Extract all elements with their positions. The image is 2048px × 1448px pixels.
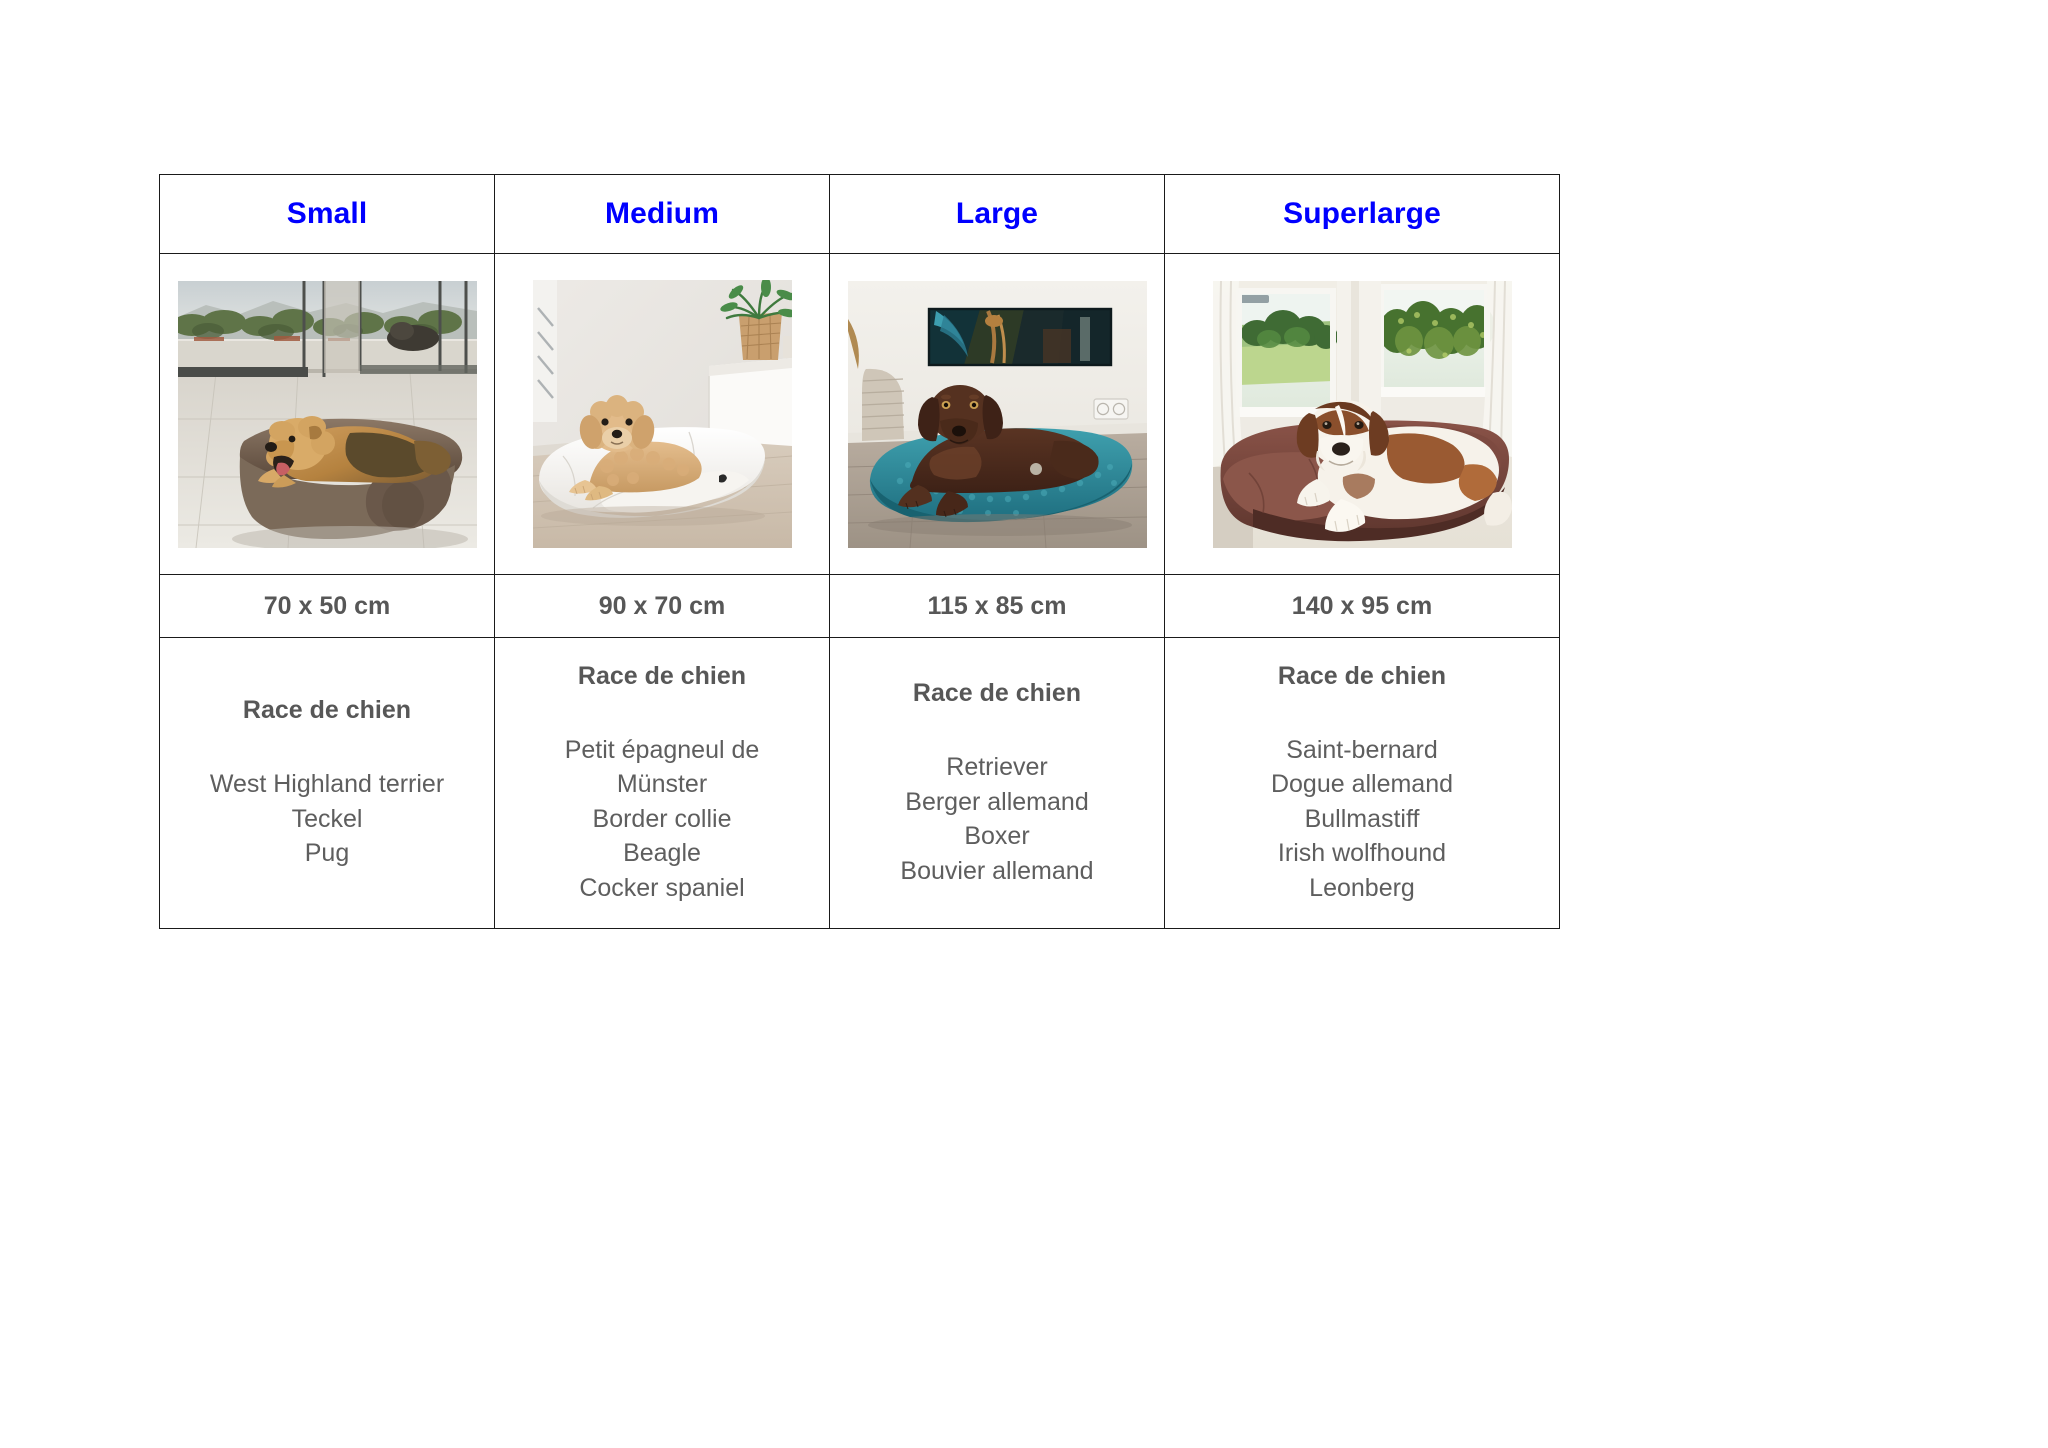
photo-wrap-superlarge: [1165, 281, 1559, 548]
dimension-large: 115 x 85 cm: [830, 594, 1164, 619]
list-item: Irish wolfhound: [1165, 836, 1559, 871]
breed-heading-large: Race de chien: [830, 678, 1164, 708]
list-item: Dogue allemand: [1165, 767, 1559, 802]
list-item: Retriever: [830, 750, 1164, 785]
cell-title-large: Large: [830, 175, 1165, 254]
large-dog-bed-photo: [848, 281, 1147, 548]
cell-dimension-superlarge: 140 x 95 cm: [1165, 575, 1560, 638]
photo-wrap-medium: [495, 280, 829, 548]
cell-photo-small: [160, 254, 495, 575]
column-title-superlarge: Superlarge: [1165, 199, 1559, 229]
list-item: Cocker spaniel: [495, 871, 829, 906]
table-row-size-titles: Small Medium Large Superlarge: [160, 175, 1560, 254]
breed-list-small: West Highland terrier Teckel Pug: [160, 767, 494, 871]
cell-breeds-medium: Race de chien Petit épagneul de Münster …: [495, 638, 830, 929]
cell-breeds-large: Race de chien Retriever Berger allemand …: [830, 638, 1165, 929]
list-item: Pug: [160, 836, 494, 871]
list-item: West Highland terrier: [160, 767, 494, 802]
cell-photo-superlarge: [1165, 254, 1560, 575]
small-dog-bed-photo: [178, 281, 477, 548]
photo-wrap-small: [160, 281, 494, 548]
column-title-large: Large: [830, 199, 1164, 229]
list-item: Boxer: [830, 819, 1164, 854]
list-item: Border collie: [495, 802, 829, 837]
breed-list-large: Retriever Berger allemand Boxer Bouvier …: [830, 750, 1164, 888]
cell-dimension-small: 70 x 50 cm: [160, 575, 495, 638]
medium-dog-bed-photo: [533, 280, 792, 548]
cell-title-small: Small: [160, 175, 495, 254]
breed-list-superlarge: Saint-bernard Dogue allemand Bullmastiff…: [1165, 733, 1559, 906]
cell-title-medium: Medium: [495, 175, 830, 254]
breed-heading-small: Race de chien: [160, 695, 494, 725]
cell-breeds-small: Race de chien West Highland terrier Teck…: [160, 638, 495, 929]
table-row-breeds: Race de chien West Highland terrier Teck…: [160, 638, 1560, 929]
column-title-small: Small: [160, 199, 494, 229]
photo-wrap-large: [830, 281, 1164, 548]
list-item: Bullmastiff: [1165, 802, 1559, 837]
cell-dimension-medium: 90 x 70 cm: [495, 575, 830, 638]
cell-breeds-superlarge: Race de chien Saint-bernard Dogue allema…: [1165, 638, 1560, 929]
list-item: Münster: [495, 767, 829, 802]
cell-title-superlarge: Superlarge: [1165, 175, 1560, 254]
page-canvas: Small Medium Large Superlarge: [0, 0, 2048, 1448]
cell-photo-medium: [495, 254, 830, 575]
column-title-medium: Medium: [495, 199, 829, 229]
table-row-dimensions: 70 x 50 cm 90 x 70 cm 115 x 85 cm 140 x …: [160, 575, 1560, 638]
dimension-medium: 90 x 70 cm: [495, 594, 829, 619]
dimension-small: 70 x 50 cm: [160, 594, 494, 619]
cell-photo-large: [830, 254, 1165, 575]
dimension-superlarge: 140 x 95 cm: [1165, 594, 1559, 619]
table-row-photos: [160, 254, 1560, 575]
list-item: Saint-bernard: [1165, 733, 1559, 768]
list-item: Leonberg: [1165, 871, 1559, 906]
cell-dimension-large: 115 x 85 cm: [830, 575, 1165, 638]
breed-heading-superlarge: Race de chien: [1165, 661, 1559, 691]
breed-heading-medium: Race de chien: [495, 661, 829, 691]
list-item: Berger allemand: [830, 785, 1164, 820]
list-item: Beagle: [495, 836, 829, 871]
breed-list-medium: Petit épagneul de Münster Border collie …: [495, 733, 829, 906]
list-item: Teckel: [160, 802, 494, 837]
list-item: Petit épagneul de: [495, 733, 829, 768]
list-item: Bouvier allemand: [830, 854, 1164, 889]
dog-bed-size-table: Small Medium Large Superlarge: [159, 174, 1560, 929]
superlarge-dog-bed-photo: [1213, 281, 1512, 548]
